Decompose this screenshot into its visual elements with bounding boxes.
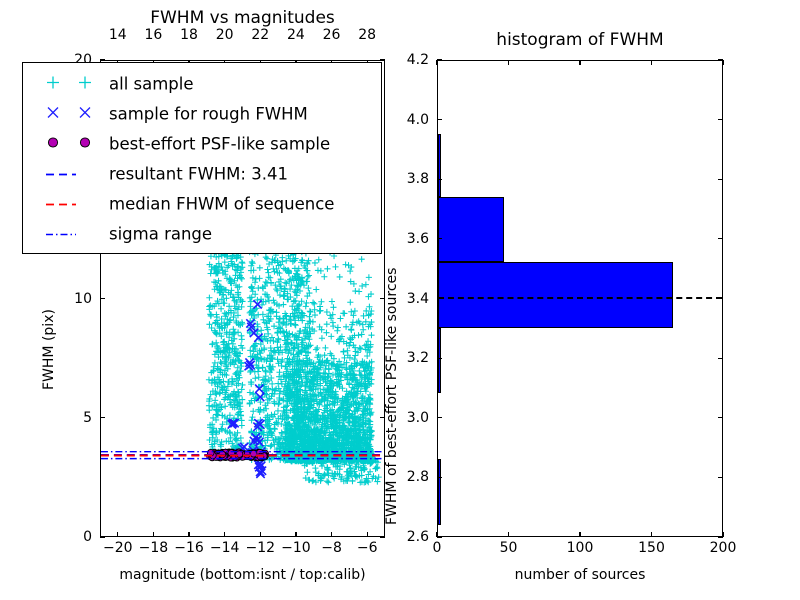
histogram-bar <box>438 134 441 197</box>
plus-marker-icon <box>46 75 60 94</box>
fwhm-reference-lines <box>101 452 384 459</box>
histogram-reference-lines <box>438 61 722 536</box>
right-ytick-mark-right <box>718 536 723 537</box>
left-ytick-mark <box>100 298 105 299</box>
left-xtick-label: −20 <box>103 541 133 555</box>
left-ytick-label: 5 <box>83 411 92 425</box>
left-xtick-mark <box>295 532 296 537</box>
right-ytick-label: 3.8 <box>407 172 429 186</box>
left-toptick-label: 14 <box>109 28 127 42</box>
rough-fwhm-sample-points <box>221 300 266 478</box>
left-toptick-label: 18 <box>180 28 198 42</box>
right-xtick-mark <box>579 532 580 537</box>
histogram-bar <box>438 459 441 525</box>
left-x-axis-label: magnitude (bottom:isnt / top:calib) <box>119 568 365 582</box>
right-ytick-mark <box>437 417 442 418</box>
plus-marker-icon <box>78 75 92 94</box>
right-ytick-mark <box>437 59 442 60</box>
legend-entry: sample for rough FWHM <box>23 99 381 129</box>
left-xtick-mark <box>367 532 368 537</box>
right-ytick-mark <box>437 238 442 239</box>
dashdot-line-marker-icon <box>46 225 76 244</box>
legend-label: median FHWM of sequence <box>109 195 334 214</box>
right-ytick-label: 4.2 <box>407 53 429 67</box>
left-toptick-label: 24 <box>287 28 305 42</box>
right-ytick-mark-right <box>718 298 723 299</box>
left-toptick-label: 26 <box>323 28 341 42</box>
right-ytick-mark <box>437 179 442 180</box>
left-xtick-mark <box>188 532 189 537</box>
right-xtick-label: 100 <box>567 541 594 555</box>
left-xtick-mark <box>224 532 225 537</box>
left-xtick-mark <box>117 532 118 537</box>
histogram-bar <box>438 328 441 394</box>
legend-entry: best-effort PSF-like sample <box>23 129 381 159</box>
left-xtick-mark <box>153 532 154 537</box>
left-xtick-label: −14 <box>210 541 240 555</box>
right-xtick-mark-top <box>436 60 437 65</box>
right-xtick-label: 150 <box>638 541 665 555</box>
cross-marker-icon <box>46 105 60 124</box>
right-xtick-label: 200 <box>710 541 737 555</box>
right-x-axis-label: number of sources <box>515 568 646 582</box>
circle-marker-icon <box>78 135 92 154</box>
left-ytick-mark-right <box>380 59 385 60</box>
legend-entry: median FHWM of sequence <box>23 189 381 219</box>
right-ytick-mark <box>437 119 442 120</box>
right-xtick-label: 50 <box>500 541 518 555</box>
histogram-bar <box>438 197 504 263</box>
legend-label: resultant FWHM: 3.41 <box>109 165 288 184</box>
legend-label: best-effort PSF-like sample <box>109 135 330 154</box>
legend-entry: resultant FWHM: 3.41 <box>23 159 381 189</box>
right-xtick-mark-top <box>579 60 580 65</box>
right-xtick-mark <box>508 532 509 537</box>
figure-canvas: FWHM vs magnitudes magnitude (bottom:isn… <box>0 0 800 600</box>
right-ytick-label: 4.0 <box>407 113 429 127</box>
right-ytick-label: 3.4 <box>407 292 429 306</box>
left-toptick-label: 22 <box>251 28 269 42</box>
psf-like-sample-points <box>207 449 269 461</box>
right-ytick-mark-right <box>718 59 723 60</box>
dashed-line-marker-icon <box>46 195 76 214</box>
right-ytick-mark-right <box>718 119 723 120</box>
left-plot-title: FWHM vs magnitudes <box>150 10 335 27</box>
right-ytick-mark <box>437 536 442 537</box>
left-ytick-mark <box>100 417 105 418</box>
right-xtick-mark <box>651 532 652 537</box>
right-xtick-mark-top <box>651 60 652 65</box>
cross-marker-icon <box>78 105 92 124</box>
right-ytick-mark-right <box>718 477 723 478</box>
right-ytick-mark <box>437 298 442 299</box>
right-ytick-mark-right <box>718 417 723 418</box>
right-ytick-mark <box>437 477 442 478</box>
right-ytick-mark-right <box>718 179 723 180</box>
left-xtick-label: −18 <box>139 541 169 555</box>
right-ytick-label: 3.0 <box>407 411 429 425</box>
legend-entry: all sample <box>23 69 381 99</box>
legend-label: sigma range <box>109 225 212 244</box>
right-ytick-label: 3.6 <box>407 232 429 246</box>
left-xtick-label: −6 <box>357 541 378 555</box>
histogram-bar <box>438 262 673 328</box>
left-ytick-mark <box>100 536 105 537</box>
left-xtick-mark <box>331 532 332 537</box>
right-xtick-mark-top <box>722 60 723 65</box>
left-xtick-mark <box>260 532 261 537</box>
histogram-bars <box>438 61 722 536</box>
left-ytick-mark-right <box>380 536 385 537</box>
left-ytick-label: 0 <box>83 530 92 544</box>
left-xtick-label: −10 <box>281 541 311 555</box>
legend-label: all sample <box>109 75 194 94</box>
right-ytick-label: 2.8 <box>407 470 429 484</box>
right-xtick-mark-top <box>508 60 509 65</box>
right-ytick-label: 3.2 <box>407 351 429 365</box>
left-ytick-label: 10 <box>74 292 92 306</box>
circle-marker-icon <box>46 135 60 154</box>
right-xtick-label: 0 <box>433 541 442 555</box>
right-ytick-label: 2.6 <box>407 530 429 544</box>
histogram-reference-line <box>438 297 722 299</box>
plot-legend: all sample sample for rough FWHM best-ef… <box>22 62 382 254</box>
legend-label: sample for rough FWHM <box>109 105 308 124</box>
right-ytick-mark-right <box>718 358 723 359</box>
left-xtick-label: −8 <box>321 541 342 555</box>
right-plot-frame <box>437 60 723 537</box>
legend-entry: sigma range <box>23 219 381 249</box>
right-plot-title: histogram of FWHM <box>496 32 663 49</box>
dashed-line-marker-icon <box>46 165 76 184</box>
right-ytick-mark-right <box>718 238 723 239</box>
right-ytick-mark <box>437 358 442 359</box>
left-toptick-label: 28 <box>358 28 376 42</box>
left-toptick-label: 20 <box>216 28 234 42</box>
left-ytick-mark <box>100 59 105 60</box>
left-xtick-label: −12 <box>246 541 276 555</box>
left-xtick-label: −16 <box>174 541 204 555</box>
left-toptick-label: 16 <box>145 28 163 42</box>
